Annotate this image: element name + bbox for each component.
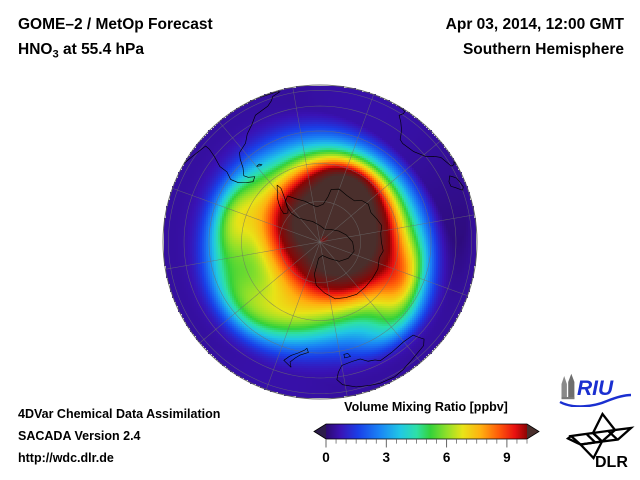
dlr-logo: DLR: [562, 411, 636, 471]
dlr-wordmark: DLR: [595, 454, 628, 471]
species-level-label: HNO3 at 55.4 hPa: [18, 37, 213, 68]
dlr-bird-icon: [568, 414, 631, 458]
forecast-datetime: Apr 03, 2014, 12:00 GMT: [446, 12, 624, 37]
globe-map: [162, 84, 478, 400]
header-left: GOME–2 / MetOp Forecast HNO3 at 55.4 hPa: [18, 12, 213, 68]
header-right: Apr 03, 2014, 12:00 GMT Southern Hemisph…: [446, 12, 624, 62]
footer-credits: 4DVar Chemical Data Assimilation SACADA …: [18, 403, 220, 469]
hno3-orthographic-heatmap: [162, 84, 478, 400]
colorbar-tick-label-0: 0: [322, 450, 330, 465]
riu-wordmark: RIU: [577, 377, 614, 400]
riu-logo: RIU: [557, 373, 633, 407]
pressure-level-suffix: at 55.4 hPa: [59, 41, 144, 58]
colorbar: Volume Mixing Ratio [ppbv] 0369: [306, 400, 546, 472]
hemisphere-label: Southern Hemisphere: [446, 37, 624, 62]
riu-towers-icon: [562, 374, 575, 399]
colorbar-title: Volume Mixing Ratio [ppbv]: [306, 400, 546, 414]
footer-line-method: 4DVar Chemical Data Assimilation: [18, 403, 220, 425]
colorbar-tick-label-6: 6: [443, 450, 451, 465]
species-prefix: HNO: [18, 41, 52, 58]
page-title: GOME–2 / MetOp Forecast: [18, 12, 213, 37]
footer-line-version: SACADA Version 2.4: [18, 425, 220, 447]
footer-line-url: http://wdc.dlr.de: [18, 447, 220, 469]
colorbar-tick-label-9: 9: [503, 450, 511, 465]
colorbar-tick-label-3: 3: [383, 450, 391, 465]
forecast-map-page: GOME–2 / MetOp Forecast HNO3 at 55.4 hPa…: [0, 0, 640, 480]
